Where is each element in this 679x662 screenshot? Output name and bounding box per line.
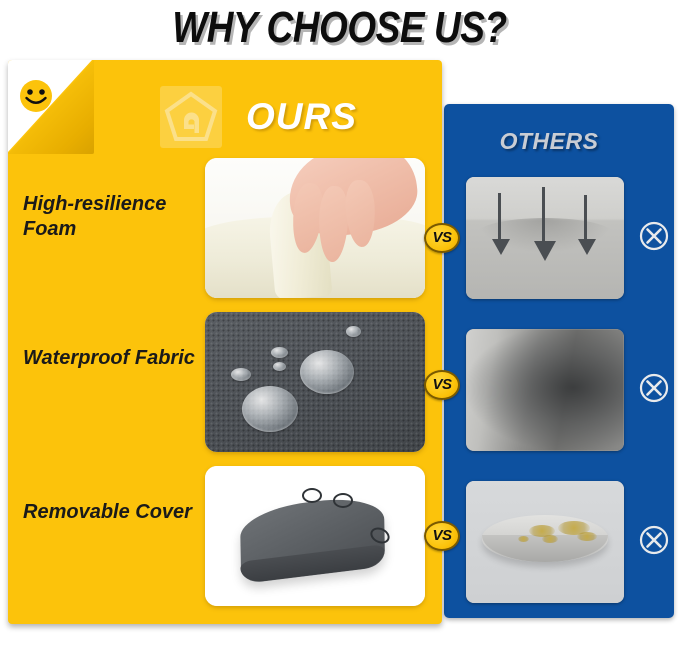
others-row-foam (466, 177, 674, 329)
ours-rows: High-resilience Foam Waterproof Fabric (8, 158, 442, 620)
house-pentagon-logo-icon (160, 86, 222, 148)
x-circle-icon (638, 372, 670, 404)
others-image-stained-cushion (466, 481, 624, 603)
others-rows (466, 177, 674, 633)
ours-panel: OURS High-resilience Foam Waterproof Fab… (8, 60, 442, 624)
x-circle-icon (638, 220, 670, 252)
others-panel-title: OTHERS (444, 128, 654, 155)
smiley-face-icon (18, 78, 54, 114)
ours-image-water-droplets (205, 312, 425, 452)
ours-image-hand-pinching-foam (205, 158, 425, 298)
others-panel: OTHERS (444, 104, 674, 618)
vs-badge-cover: VS (424, 521, 460, 551)
page-title: WHY CHOOSE US? (54, 2, 624, 54)
ours-panel-title: OURS (246, 96, 357, 138)
ours-row-cover: Removable Cover (8, 466, 442, 620)
ours-row-fabric: Waterproof Fabric (8, 312, 442, 466)
x-circle-icon (638, 524, 670, 556)
others-image-collapsed-foam (466, 177, 624, 299)
vs-badge-fabric: VS (424, 370, 460, 400)
ours-feature-label-foam: High-resilience Foam (23, 192, 203, 242)
others-row-fabric (466, 329, 674, 481)
ours-feature-label-fabric: Waterproof Fabric (23, 346, 203, 371)
others-image-soaked-fabric (466, 329, 624, 451)
ours-row-foam: High-resilience Foam (8, 158, 442, 312)
others-row-cover (466, 481, 674, 633)
ours-image-seat-cushion (205, 466, 425, 606)
vs-badge-foam: VS (424, 223, 460, 253)
ours-feature-label-cover: Removable Cover (23, 500, 203, 525)
